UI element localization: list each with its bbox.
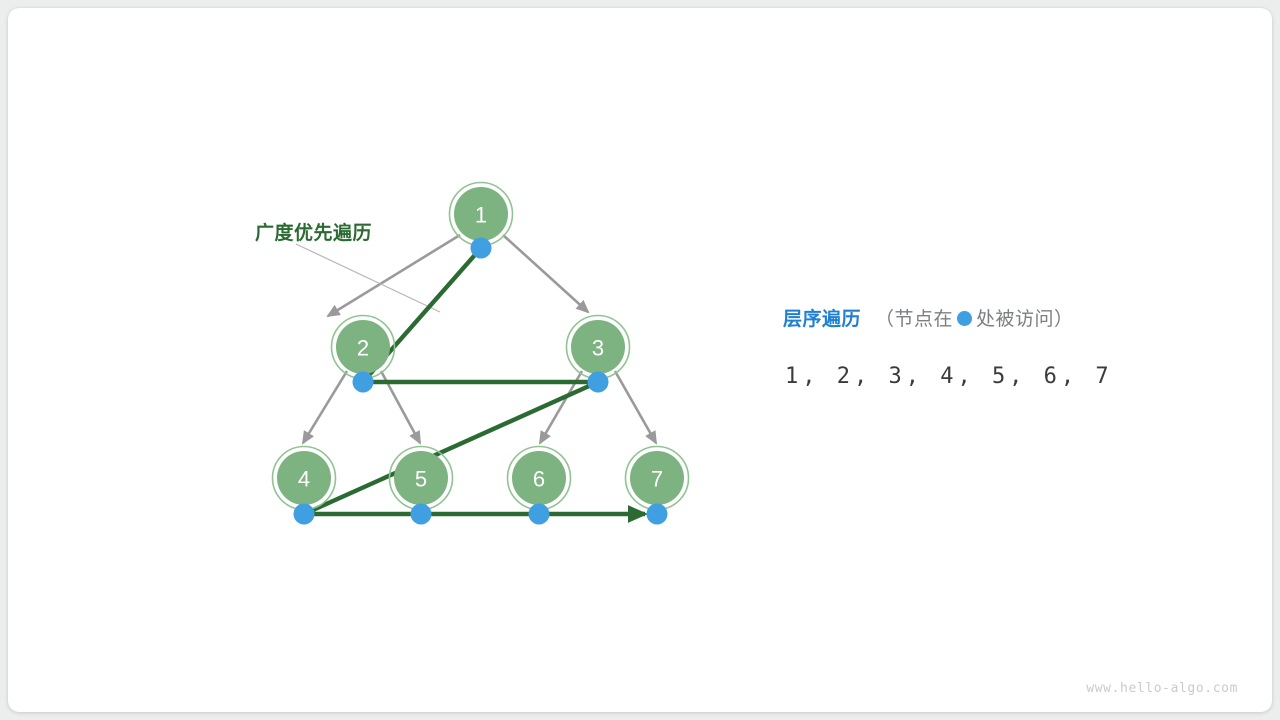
visit-dot-icon-2[interactable] bbox=[353, 372, 374, 393]
blue-dot-icon bbox=[957, 311, 972, 326]
leader-line bbox=[296, 244, 440, 312]
legend-title: 层序遍历 bbox=[783, 304, 861, 331]
tree-node-1[interactable]: 1 bbox=[450, 183, 513, 246]
tree-node-7[interactable]: 7 bbox=[626, 447, 689, 510]
diagram-card: 1 2 3 4 bbox=[8, 8, 1272, 712]
node-label: 3 bbox=[592, 336, 604, 361]
node-label: 6 bbox=[533, 467, 545, 492]
edge-2-4 bbox=[303, 371, 347, 443]
tree-node-6[interactable]: 6 bbox=[508, 447, 571, 510]
legend-note-suffix: 处被访问） bbox=[976, 304, 1074, 331]
legend: 层序遍历 （节点在 处被访问） bbox=[783, 304, 1074, 331]
tree-node-5[interactable]: 5 bbox=[390, 447, 453, 510]
node-label: 5 bbox=[415, 467, 427, 492]
binary-tree-bfs-diagram: 1 2 3 4 bbox=[8, 8, 1272, 712]
visit-dot-icon-5[interactable] bbox=[411, 504, 432, 525]
visit-dot-icon-6[interactable] bbox=[529, 504, 550, 525]
node-label: 7 bbox=[651, 467, 663, 492]
node-label: 2 bbox=[357, 336, 369, 361]
diagram-stage: 1 2 3 4 bbox=[8, 8, 1272, 712]
tree-node-2[interactable]: 2 bbox=[332, 316, 395, 379]
bfs-caption: 广度优先遍历 bbox=[255, 218, 372, 245]
legend-note-prefix: （节点在 bbox=[875, 304, 953, 331]
tree-node-4[interactable]: 4 bbox=[273, 447, 336, 510]
edge-3-7 bbox=[615, 371, 656, 443]
node-label: 4 bbox=[298, 467, 310, 492]
edge-1-3 bbox=[503, 235, 588, 312]
tree-node-3[interactable]: 3 bbox=[567, 316, 630, 379]
legend-note: （节点在 处被访问） bbox=[875, 304, 1074, 331]
visit-dot-icon-3[interactable] bbox=[588, 372, 609, 393]
watermark: www.hello-algo.com bbox=[1086, 681, 1238, 696]
traversal-sequence: 1, 2, 3, 4, 5, 6, 7 bbox=[785, 364, 1113, 389]
visit-dot-icon-1[interactable] bbox=[471, 238, 492, 259]
visit-dot-icon-4[interactable] bbox=[294, 504, 315, 525]
node-label: 1 bbox=[475, 203, 487, 228]
visit-dot-icon-7[interactable] bbox=[647, 504, 668, 525]
edge-1-2 bbox=[328, 235, 460, 316]
